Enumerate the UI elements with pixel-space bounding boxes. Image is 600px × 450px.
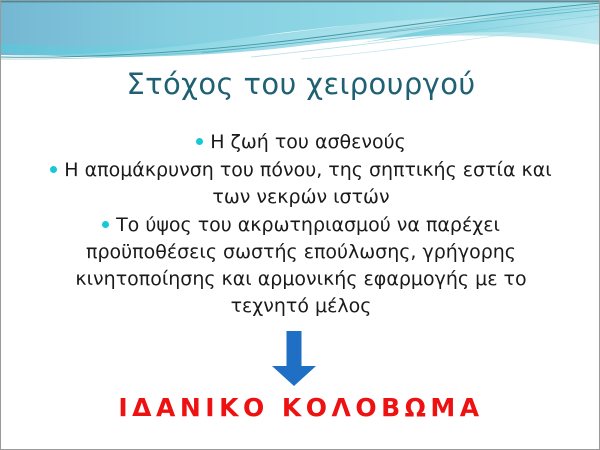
list-item: Η απομάκρυνση του πόνου, της σηπτικής εσ… <box>31 157 571 211</box>
slide: Στόχος του χειρουργού Η ζωή του ασθενούς… <box>0 0 600 450</box>
slide-title: Στόχος του χειρουργού <box>1 67 600 101</box>
wave-banner-decoration <box>1 1 600 61</box>
list-item-label: Το ύψος του ακρωτηριασμού να παρέχει προ… <box>75 214 526 317</box>
bullet-point-icon <box>102 221 109 228</box>
list-item: Το ύψος του ακρωτηριασμού να παρέχει προ… <box>31 212 571 320</box>
conclusion-text: ΙΔΑΝΙΚΟ ΚΟΛΟΒΩΜΑ <box>1 393 600 422</box>
list-item: Η ζωή του ασθενούς <box>31 129 571 156</box>
bullet-point-icon <box>50 166 57 173</box>
down-arrow-icon <box>271 331 317 387</box>
bullet-list: Η ζωή του ασθενούς Η απομάκρυνση του πόν… <box>31 129 571 321</box>
bullet-point-icon <box>196 138 203 145</box>
list-item-label: Η απομάκρυνση του πόνου, της σηπτικής εσ… <box>64 159 551 208</box>
list-item-label: Η ζωή του ασθενούς <box>210 131 406 153</box>
